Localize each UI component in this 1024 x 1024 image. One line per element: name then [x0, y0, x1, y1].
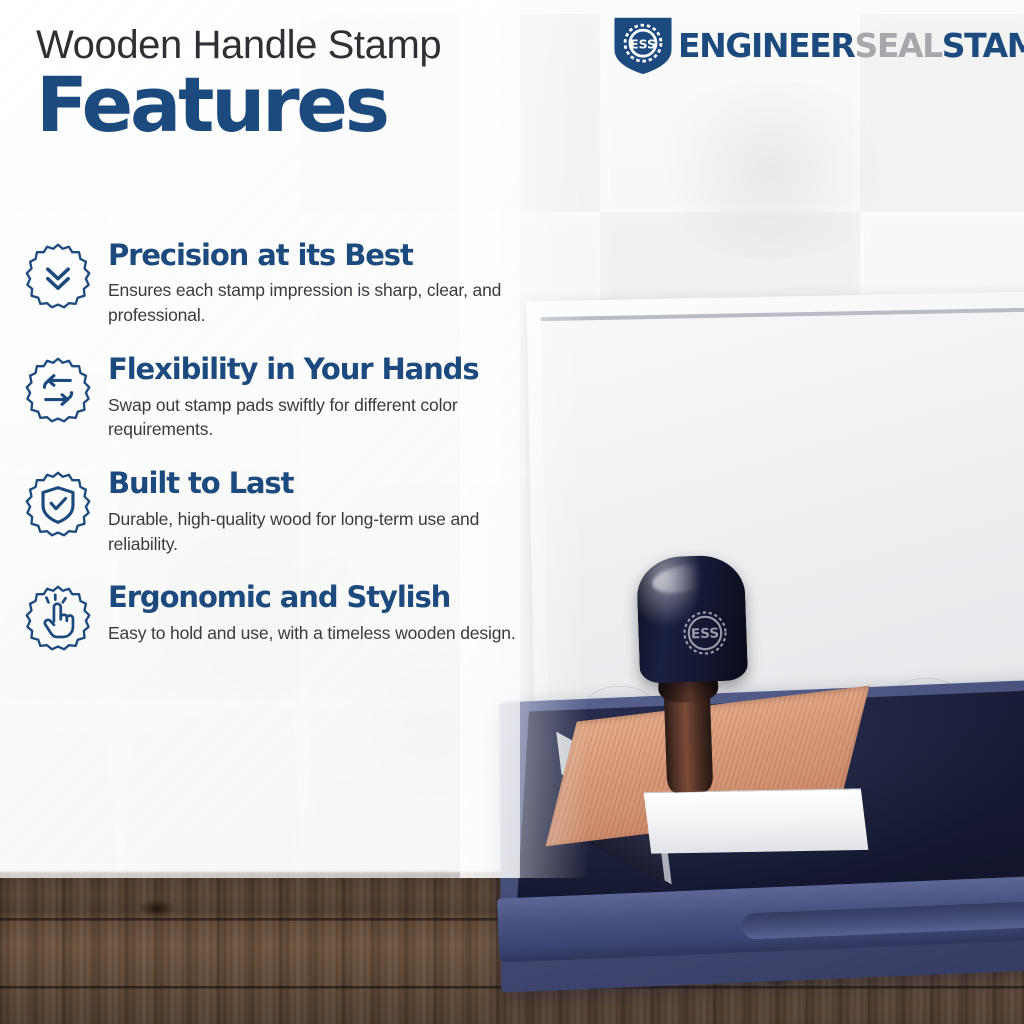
infographic-canvas: ESS Wooden Handle Stamp Features ESS ENG…	[0, 0, 1024, 1024]
ess-badge-icon: ESS	[612, 14, 674, 76]
feature-title: Flexibility in Your Hands	[108, 354, 528, 384]
feature-description: Durable, high-quality wood for long-term…	[108, 507, 528, 557]
double-chevron-down-icon	[24, 242, 92, 310]
handle-ess-gear-logo-icon: ESS	[677, 605, 733, 661]
feature-title: Built to Last	[108, 468, 528, 498]
feature-description: Ensures each stamp impression is sharp, …	[108, 278, 528, 328]
feature-title: Ergonomic and Stylish	[108, 582, 516, 612]
feature-item-durability: Built to Last Durable, high-quality wood…	[24, 464, 554, 556]
shield-check-icon	[24, 470, 92, 538]
stamp-mount-front	[644, 788, 869, 853]
feature-description: Easy to hold and use, with a timeless wo…	[108, 621, 516, 646]
handle-logo-text: ESS	[691, 625, 720, 642]
tap-hand-icon	[24, 584, 92, 652]
page-header: Wooden Handle Stamp Features	[36, 24, 636, 142]
feature-title: Precision at its Best	[108, 240, 528, 270]
brand-logo[interactable]: ESS ENGINEER SEAL STAMPS .COM	[612, 14, 1024, 76]
feature-item-precision: Precision at its Best Ensures each stamp…	[24, 236, 554, 328]
feature-list: Precision at its Best Ensures each stamp…	[24, 236, 554, 674]
page-title: Features	[36, 68, 636, 142]
feature-item-flexibility: Flexibility in Your Hands Swap out stamp…	[24, 350, 554, 442]
swap-arrows-icon	[24, 356, 92, 424]
wordmark-stamps: STAMPS	[942, 26, 1024, 65]
feature-description: Swap out stamp pads swiftly for differen…	[108, 393, 528, 443]
feature-item-ergonomic: Ergonomic and Stylish Easy to hold and u…	[24, 578, 554, 652]
wordmark-engineer: ENGINEER	[678, 26, 854, 65]
brand-wordmark: ENGINEER SEAL STAMPS .COM	[678, 26, 1024, 65]
ess-badge-text: ESS	[630, 37, 656, 52]
wordmark-seal: SEAL	[854, 26, 941, 65]
